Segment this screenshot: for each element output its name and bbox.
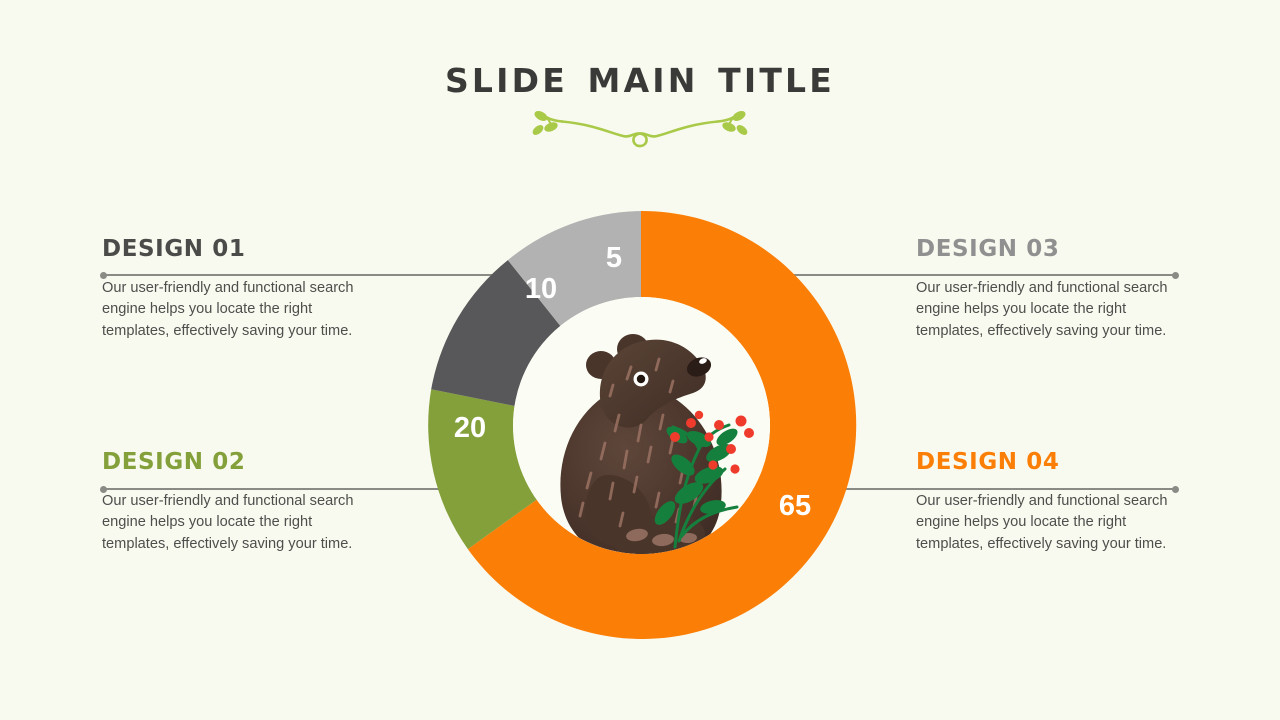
design-02-body: Our user-friendly and functional search … <box>102 491 364 555</box>
design-item-01[interactable]: DESIGN 01 Our user-friendly and function… <box>102 238 364 342</box>
illustration-container <box>513 297 770 554</box>
design-04-heading: DESIGN 04 <box>916 451 1178 474</box>
design-02-heading: DESIGN 02 <box>102 451 364 474</box>
design-item-03[interactable]: DESIGN 03 Our user-friendly and function… <box>916 238 1178 342</box>
bear-with-berries-illustration <box>513 297 770 554</box>
design-item-04[interactable]: DESIGN 04 Our user-friendly and function… <box>916 451 1178 555</box>
title-block: Slide Main Title <box>0 52 1280 150</box>
design-01-body: Our user-friendly and functional search … <box>102 278 364 342</box>
design-03-heading: DESIGN 03 <box>916 238 1178 261</box>
slide-canvas: Slide Main Title <box>0 0 1280 720</box>
donut-label-65: 65 <box>779 490 811 522</box>
donut-label-20: 20 <box>454 412 486 444</box>
design-04-body: Our user-friendly and functional search … <box>916 491 1178 555</box>
design-item-02[interactable]: DESIGN 02 Our user-friendly and function… <box>102 451 364 555</box>
vine-flourish-ornament <box>490 110 790 150</box>
design-03-body: Our user-friendly and functional search … <box>916 278 1178 342</box>
page-title: Slide Main Title <box>0 52 1280 101</box>
design-01-heading: DESIGN 01 <box>102 238 364 261</box>
donut-label-5: 5 <box>606 242 622 274</box>
